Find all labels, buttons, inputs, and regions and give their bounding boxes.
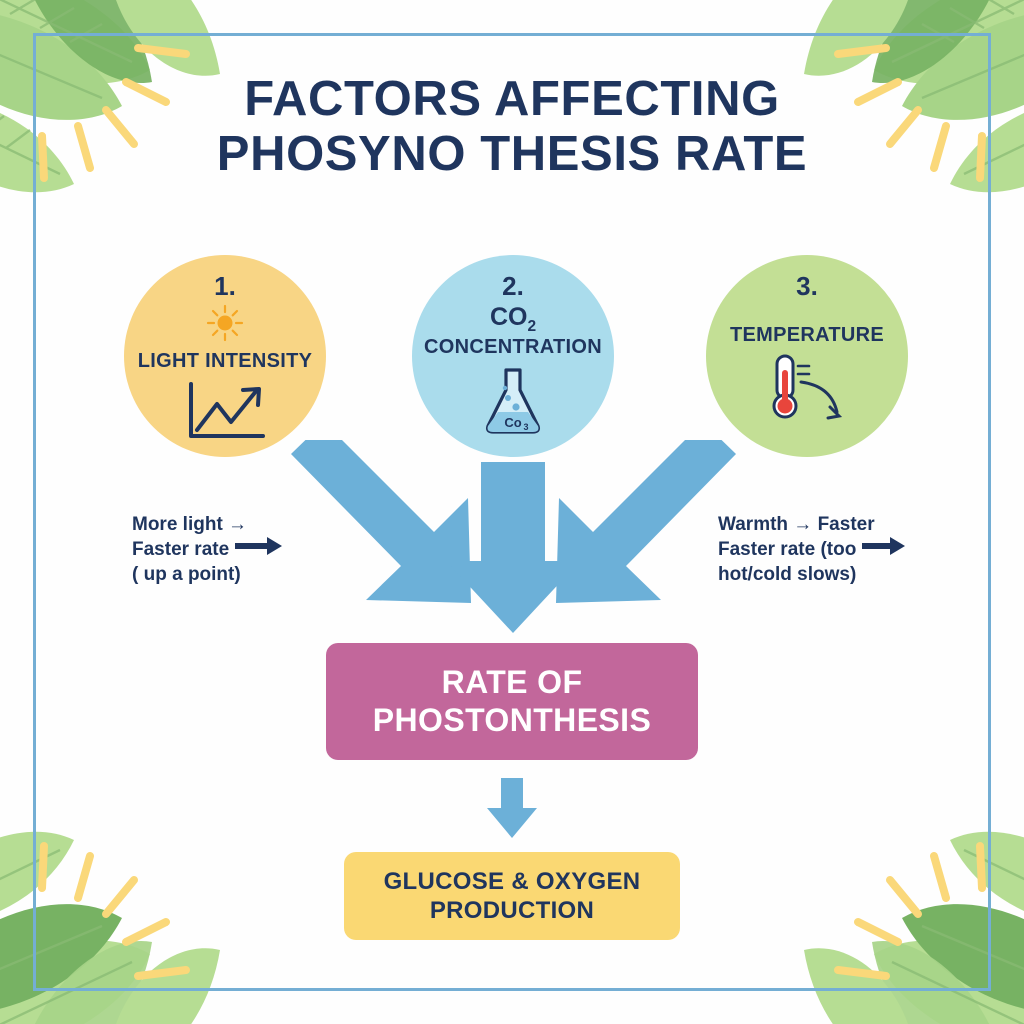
caption-line-3: ( up a point) — [132, 562, 342, 587]
arrow-to-output-icon — [484, 778, 540, 845]
result-box-rate-of-photosynthesis[interactable]: RATE OF PHOSTONTHESIS — [326, 643, 698, 760]
factor-formula-subscript: 2 — [527, 318, 536, 335]
corner-decoration-bottom-left — [0, 716, 312, 1024]
sun-icon — [205, 303, 245, 343]
title-line-2: PHOSYNO THESIS RATE — [0, 127, 1024, 182]
caption-line-1: Warmth → Faster — [718, 512, 933, 537]
svg-text:Co: Co — [504, 415, 521, 430]
factor-label: TEMPERATURE — [730, 325, 884, 346]
right-arrow-icon — [235, 537, 283, 562]
caption-line-3: hot/cold slows) — [718, 562, 933, 587]
svg-text:3: 3 — [523, 422, 528, 432]
infographic-poster: FACTORS AFFECTING PHOSYNO THESIS RATE 1. — [0, 0, 1024, 1024]
output-line-2: PRODUCTION — [430, 896, 594, 925]
leaf-cluster-icon — [804, 832, 1024, 1024]
caption-temperature: Warmth → Faster Faster rate (too hot/col… — [718, 512, 933, 587]
factor-label: CONCENTRATION — [424, 337, 602, 358]
factor-label: LIGHT INTENSITY — [138, 351, 313, 372]
factor-circle-temperature[interactable]: 3. TEMPERATURE — [706, 255, 908, 457]
factor-circle-light-intensity[interactable]: 1. LIGHT INTENSITY — [124, 255, 326, 457]
right-arrow-icon — [862, 537, 906, 562]
caption-line-2: Faster rate — [132, 537, 229, 562]
flask-icon: Co 3 — [478, 364, 548, 441]
result-line-2: PHOSTONTHESIS — [373, 702, 651, 740]
output-box-glucose-oxygen[interactable]: GLUCOSE & OXYGEN PRODUCTION — [344, 852, 680, 940]
sun-rays-icon — [838, 846, 982, 976]
factor-number: 2. — [502, 273, 524, 299]
page-title: FACTORS AFFECTING PHOSYNO THESIS RATE — [0, 72, 1024, 182]
result-line-1: RATE OF — [442, 664, 583, 702]
sun-rays-icon — [42, 846, 186, 976]
factor-number: 1. — [214, 273, 236, 299]
corner-decoration-bottom-right — [712, 716, 1024, 1024]
title-line-1: FACTORS AFFECTING — [244, 72, 780, 126]
output-line-1: GLUCOSE & OXYGEN — [384, 867, 641, 896]
leaf-cluster-icon — [0, 832, 220, 1024]
caption-line-1: More light → — [132, 512, 342, 537]
thermometer-icon — [761, 352, 853, 429]
curved-arrow-icon — [801, 382, 839, 418]
factor-circle-co2-concentration[interactable]: 2. CO2 CONCENTRATION Co 3 — [412, 255, 614, 457]
factor-formula-text: CO — [490, 303, 528, 331]
factor-number: 3. — [796, 273, 818, 299]
arrow-from-temperature — [556, 440, 736, 603]
caption-line-2: Faster rate (too — [718, 537, 856, 562]
caption-light-intensity: More light → Faster rate ( up a point) — [132, 512, 342, 587]
factor-formula: CO2 — [490, 305, 536, 335]
